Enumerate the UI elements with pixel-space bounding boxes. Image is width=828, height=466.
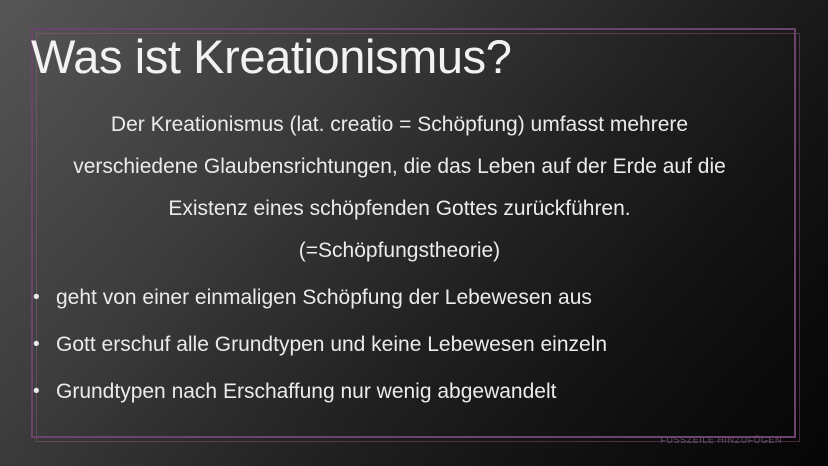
intro-paragraph-line-4: (=Schöpfungstheorie): [31, 230, 768, 272]
list-item[interactable]: • geht von einer einmaligen Schöpfung de…: [33, 274, 763, 321]
bullet-list[interactable]: • geht von einer einmaligen Schöpfung de…: [33, 274, 763, 415]
slide-title[interactable]: Was ist Kreationismus?: [31, 31, 731, 84]
bullet-point-icon: •: [33, 368, 40, 415]
footer-placeholder[interactable]: FUSSZEILE HINZUFÜGEN: [660, 435, 782, 445]
list-item-label: geht von einer einmaligen Schöpfung der …: [56, 286, 592, 309]
presentation-slide: Was ist Kreationismus? Der Kreationismus…: [0, 0, 828, 466]
list-item[interactable]: • Grundtypen nach Erschaffung nur wenig …: [33, 368, 763, 415]
list-item[interactable]: • Gott erschuf alle Grundtypen und keine…: [33, 321, 763, 368]
list-item-label: Gott erschuf alle Grundtypen und keine L…: [56, 333, 607, 356]
bullet-point-icon: •: [33, 274, 40, 321]
intro-paragraph-line-2: verschiedene Glaubensrichtungen, die das…: [31, 146, 768, 188]
intro-paragraph[interactable]: Der Kreationismus (lat. creatio = Schöpf…: [31, 104, 768, 272]
intro-paragraph-line-1: Der Kreationismus (lat. creatio = Schöpf…: [31, 104, 768, 146]
intro-paragraph-line-3: Existenz eines schöpfenden Gottes zurück…: [31, 188, 768, 230]
bullet-point-icon: •: [33, 321, 40, 368]
list-item-label: Grundtypen nach Erschaffung nur wenig ab…: [56, 380, 556, 403]
